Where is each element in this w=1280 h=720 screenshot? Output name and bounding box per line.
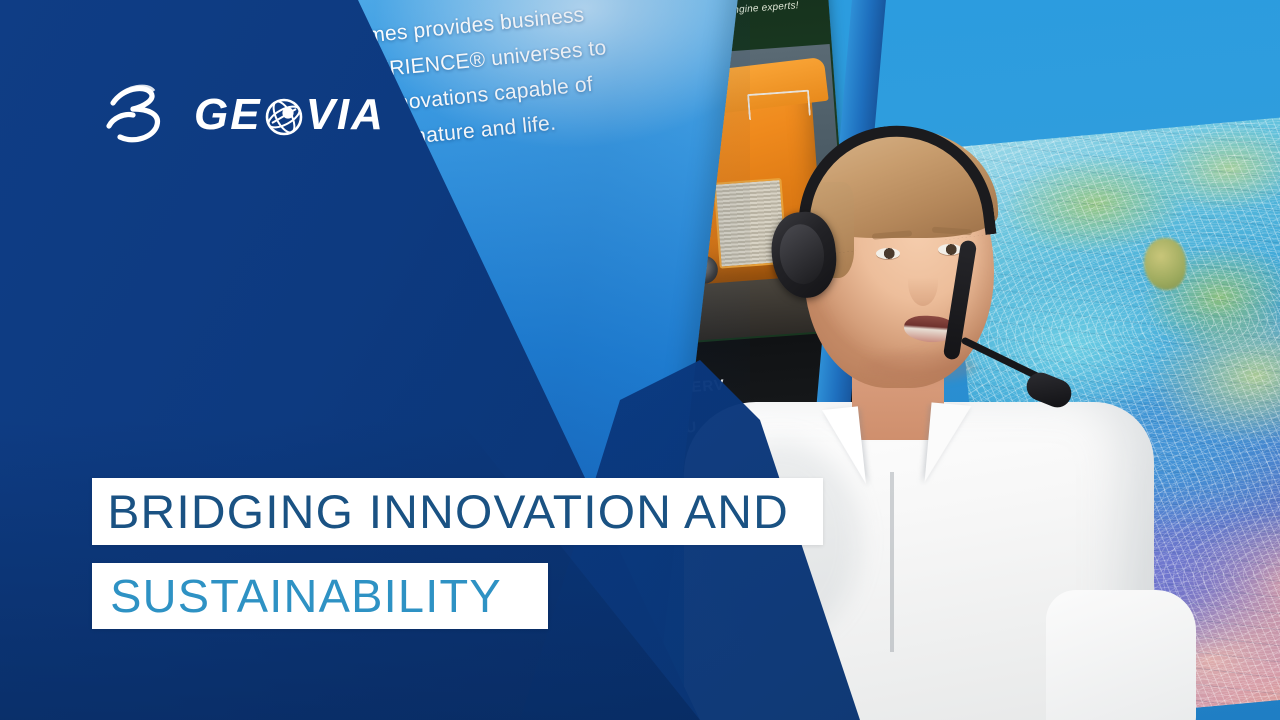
geovia-logo-lockup: GE VIA bbox=[104, 82, 385, 148]
title-line-2-text: SUSTAINABILITY bbox=[110, 573, 502, 619]
shirt-sleeve bbox=[1046, 590, 1196, 720]
eye-left bbox=[876, 248, 900, 259]
globe-icon bbox=[264, 97, 304, 137]
title-line-1-box: BRIDGING INNOVATION AND bbox=[92, 478, 823, 545]
collar-right bbox=[925, 402, 972, 485]
title-line-2-box: SUSTAINABILITY bbox=[92, 563, 548, 629]
3ds-compass-icon bbox=[104, 82, 178, 148]
truck-railing bbox=[747, 90, 811, 120]
headset-earcup-inner bbox=[777, 222, 827, 286]
nose bbox=[908, 258, 938, 306]
title-line-1-text: BRIDGING INNOVATION AND bbox=[107, 488, 789, 535]
geovia-text-suffix: VIA bbox=[306, 93, 385, 137]
video-thumbnail: al Diesel, Inc. , off-highway diesel eng… bbox=[0, 0, 1280, 720]
chin-shadow bbox=[866, 352, 976, 382]
geovia-wordmark: GE VIA bbox=[194, 93, 385, 137]
geovia-text-prefix: GE bbox=[194, 93, 262, 137]
shirt-placket bbox=[890, 472, 894, 652]
